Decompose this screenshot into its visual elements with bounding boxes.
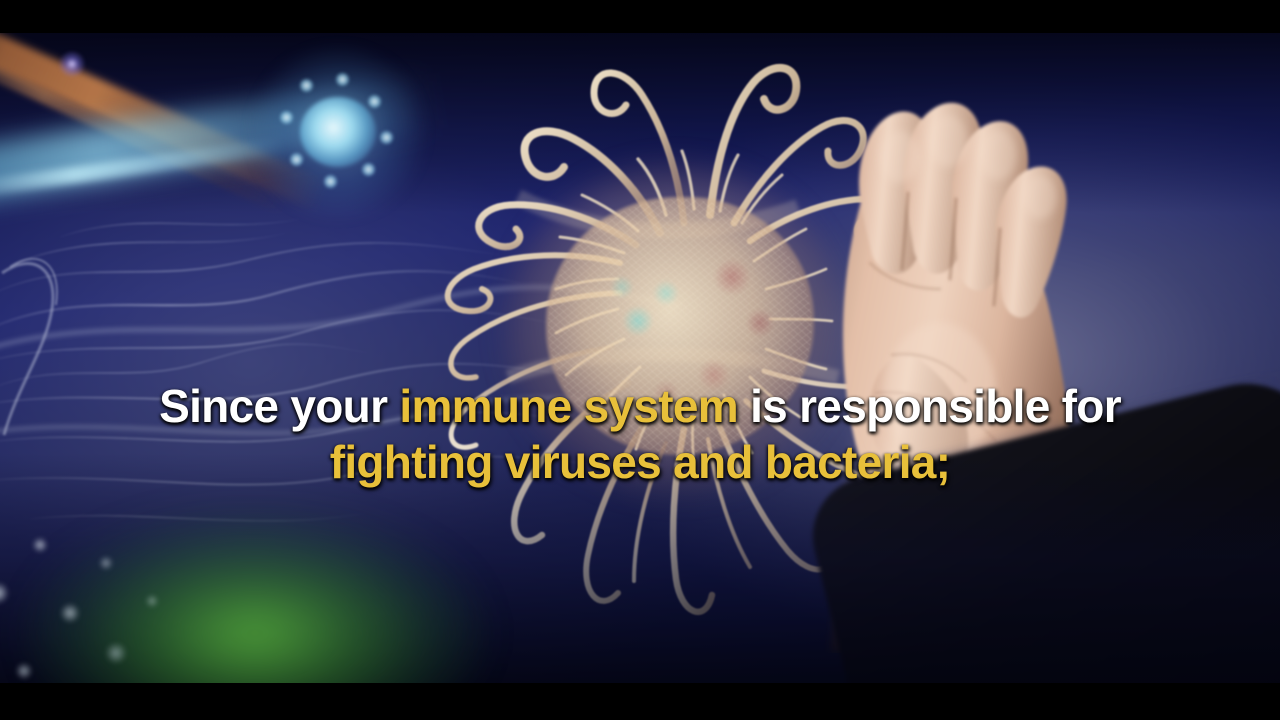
virus-spike <box>324 175 337 188</box>
subtitle-segment-highlight: immune system <box>399 380 738 432</box>
video-image-area: Since your immune system is responsible … <box>0 33 1280 683</box>
virus-spike <box>336 73 349 86</box>
letterbox-top-bar <box>0 0 1280 33</box>
subtitle-segment-white: is responsible for <box>738 380 1121 432</box>
virus-spike <box>300 79 313 92</box>
virus-particle-blue-icon <box>284 81 392 183</box>
virus-spike <box>380 131 393 144</box>
video-frame: Since your immune system is responsible … <box>0 0 1280 720</box>
subtitle-caption: Since your immune system is responsible … <box>0 378 1280 490</box>
letterbox-bottom-bar <box>0 683 1280 720</box>
virus-core <box>300 97 376 167</box>
cell-cluster-white <box>0 493 250 683</box>
virus-spike <box>280 111 293 124</box>
subtitle-segment-highlight: fighting viruses and bacteria; <box>330 436 951 488</box>
subtitle-segment-white: Since your <box>159 380 399 432</box>
virus-spike <box>290 153 303 166</box>
subtitle-line-1: Since your immune system is responsible … <box>0 378 1280 434</box>
virus-spike <box>368 95 381 108</box>
virus-spike <box>362 163 375 176</box>
subtitle-line-2: fighting viruses and bacteria; <box>0 434 1280 490</box>
